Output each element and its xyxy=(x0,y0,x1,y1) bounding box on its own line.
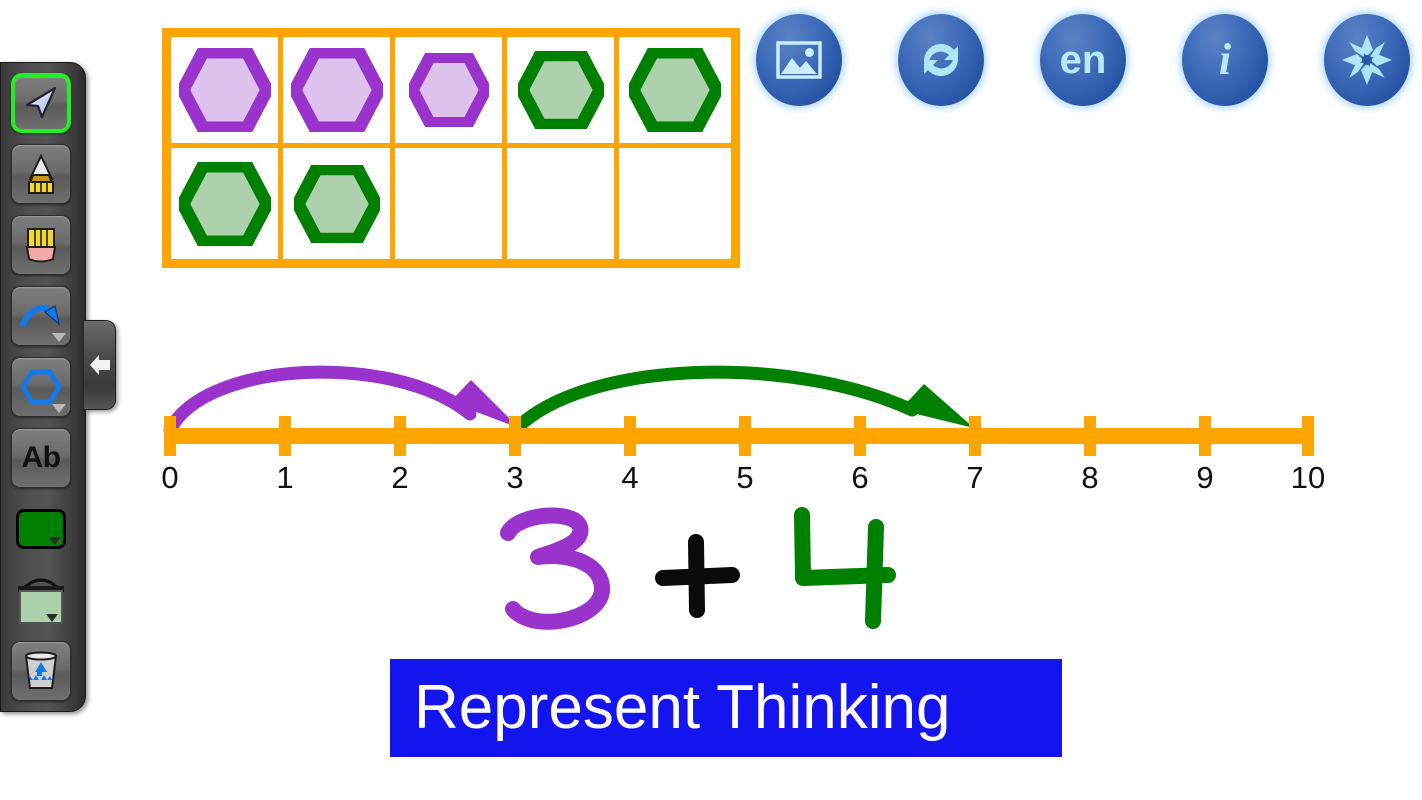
reset-button[interactable] xyxy=(898,14,984,106)
tool-trash-button[interactable] xyxy=(11,641,71,701)
curved-arrow-icon xyxy=(19,300,63,332)
ten-frame-cell[interactable] xyxy=(619,37,731,148)
number-line-label: 2 xyxy=(370,460,430,496)
fill-dropdown-icon[interactable] xyxy=(46,614,58,622)
toolbar-collapse-tab[interactable] xyxy=(84,320,116,410)
number-line-label: 7 xyxy=(945,460,1005,496)
ten-frame-cell-empty[interactable] xyxy=(507,148,619,259)
tool-arrow-button[interactable] xyxy=(11,286,71,346)
number-line-tick[interactable] xyxy=(854,416,866,456)
shape-dropdown-icon[interactable] xyxy=(52,404,66,413)
language-label: en xyxy=(1060,40,1107,80)
number-line-tick[interactable] xyxy=(739,416,751,456)
equation-operator[interactable] xyxy=(663,542,732,610)
hexagon-icon xyxy=(20,368,62,406)
tool-eraser-button[interactable] xyxy=(11,215,71,275)
ten-frame-cell[interactable] xyxy=(283,37,395,148)
number-line-tick[interactable] xyxy=(1199,416,1211,456)
hexagon-green-icon xyxy=(294,165,380,243)
arrow-dropdown-icon[interactable] xyxy=(52,333,66,342)
number-line-tick[interactable] xyxy=(1084,416,1096,456)
language-button[interactable]: en xyxy=(1040,14,1126,106)
number-line-label: 5 xyxy=(715,460,775,496)
banner-label: Represent Thinking xyxy=(414,677,951,739)
tool-text-button[interactable]: Ab xyxy=(11,428,71,488)
represent-thinking-banner[interactable]: Represent Thinking xyxy=(390,659,1062,757)
jump-arc-purple[interactable] xyxy=(170,372,519,430)
ten-frame-cell-empty[interactable] xyxy=(619,148,731,259)
fill-bucket-icon[interactable] xyxy=(12,570,70,626)
cursor-arrow-icon xyxy=(21,83,61,123)
bucket-shape xyxy=(12,570,70,626)
number-line-label: 4 xyxy=(600,460,660,496)
number-line-tick[interactable] xyxy=(164,416,176,456)
pencil-icon xyxy=(21,153,61,195)
hexagon-green-icon xyxy=(518,51,604,129)
tool-fill-color-button[interactable] xyxy=(11,568,71,628)
equation-addend-2[interactable] xyxy=(802,515,888,621)
number-line-label: 8 xyxy=(1060,460,1120,496)
eraser-icon xyxy=(20,225,62,265)
ten-frame-cell[interactable] xyxy=(507,37,619,148)
number-line-tick[interactable] xyxy=(509,416,521,456)
ten-frame-cell[interactable] xyxy=(171,148,283,259)
text-tool-label: Ab xyxy=(22,441,61,475)
top-button-bar: en i xyxy=(756,10,1416,110)
number-line-label: 1 xyxy=(255,460,315,496)
stroke-color-swatch[interactable] xyxy=(16,509,66,549)
hexagon-purple-icon xyxy=(291,48,383,132)
number-line-label: 6 xyxy=(830,460,890,496)
equation-strokes xyxy=(470,495,950,640)
tool-shape-button[interactable] xyxy=(11,357,71,417)
ten-frame-cell[interactable] xyxy=(283,148,395,259)
hexagon-purple-icon xyxy=(179,48,271,132)
tool-select-button[interactable] xyxy=(11,73,71,133)
tool-pencil-button[interactable] xyxy=(11,144,71,204)
hexagon-purple-icon xyxy=(409,53,489,127)
hexagon-green-icon xyxy=(179,162,271,246)
number-line-tick[interactable] xyxy=(279,416,291,456)
refresh-icon xyxy=(914,33,968,87)
number-line-label: 0 xyxy=(140,460,200,496)
number-line[interactable]: 0 1 2 3 4 5 6 7 8 9 10 xyxy=(0,330,1422,510)
gallery-button[interactable] xyxy=(756,14,842,106)
equation-addend-1[interactable] xyxy=(508,516,602,622)
number-line-label: 9 xyxy=(1175,460,1235,496)
tool-stroke-color-button[interactable] xyxy=(11,499,71,559)
drawing-toolbar: Ab xyxy=(0,62,86,712)
recycle-bin-icon xyxy=(20,650,62,692)
info-button[interactable]: i xyxy=(1182,14,1268,106)
ten-frame-cell-empty[interactable] xyxy=(395,148,507,259)
number-line-label: 10 xyxy=(1278,460,1338,496)
number-line-tick[interactable] xyxy=(1302,416,1314,456)
info-label: i xyxy=(1219,38,1231,82)
hexagon-green-icon xyxy=(629,48,721,132)
ten-frame-cell[interactable] xyxy=(171,37,283,148)
settings-button[interactable] xyxy=(1324,14,1410,106)
number-line-label: 3 xyxy=(485,460,545,496)
arrow-left-icon xyxy=(88,352,112,378)
ten-frame-cell[interactable] xyxy=(395,37,507,148)
number-line-tick[interactable] xyxy=(624,416,636,456)
flower-settings-icon xyxy=(1338,31,1396,89)
number-line-tick[interactable] xyxy=(394,416,406,456)
stroke-dropdown-icon[interactable] xyxy=(49,537,61,545)
ten-frame[interactable] xyxy=(162,28,740,268)
number-line-tick[interactable] xyxy=(969,416,981,456)
handwritten-equation[interactable] xyxy=(470,495,950,640)
image-gallery-icon xyxy=(775,39,823,81)
